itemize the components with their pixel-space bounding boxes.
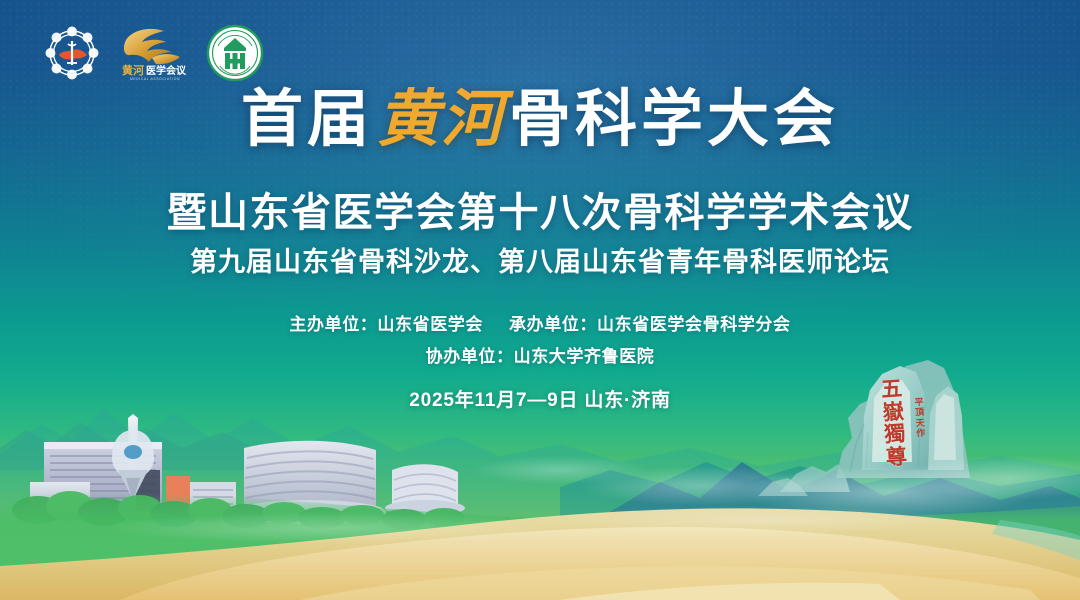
poster-subtitle-secondary: 第九届山东省骨科沙龙、第八届山东省青年骨科医师论坛 (0, 240, 1080, 279)
host-label: 主办单位： (289, 315, 377, 334)
organizer-row-secondary: 协办单位：山东大学齐鲁医院 (0, 342, 1080, 367)
headline-prefix: 首届 (241, 85, 373, 154)
poster-subtitle-primary: 暨山东省医学会第十八次骨科学学术会议 (0, 180, 1080, 238)
organizer-row-primary: 主办单位：山东省医学会承办单位：山东省医学会骨科学分会 (0, 310, 1080, 335)
poster-text-block: 首届黄河骨科学大会 暨山东省医学会第十八次骨科学学术会议 第九届山东省骨科沙龙、… (0, 0, 1080, 600)
stone-small-char-4: 作 (913, 429, 930, 440)
conference-poster: 黄河 医学会议 MEDICAL ASSOCIATION (0, 0, 1080, 600)
host-value: 山东省医学会 (377, 315, 483, 334)
poster-headline: 首届黄河骨科学大会 (0, 88, 1080, 151)
coorganizer-label: 协办单位： (426, 347, 514, 366)
stone-inscription-small: 平 頂 天 作 (911, 398, 929, 440)
coorganizer-value: 山东大学齐鲁医院 (514, 347, 655, 366)
stone-char-4: 尊 (876, 445, 917, 470)
headline-highlight-huanghe: 黄河 (373, 82, 509, 155)
undertaker-label: 承办单位： (509, 315, 597, 334)
undertaker-value: 山东省医学会骨科学分会 (597, 315, 791, 334)
stone-inscription: 五 嶽 獨 尊 (871, 377, 917, 470)
headline-suffix: 骨科学大会 (509, 85, 839, 154)
